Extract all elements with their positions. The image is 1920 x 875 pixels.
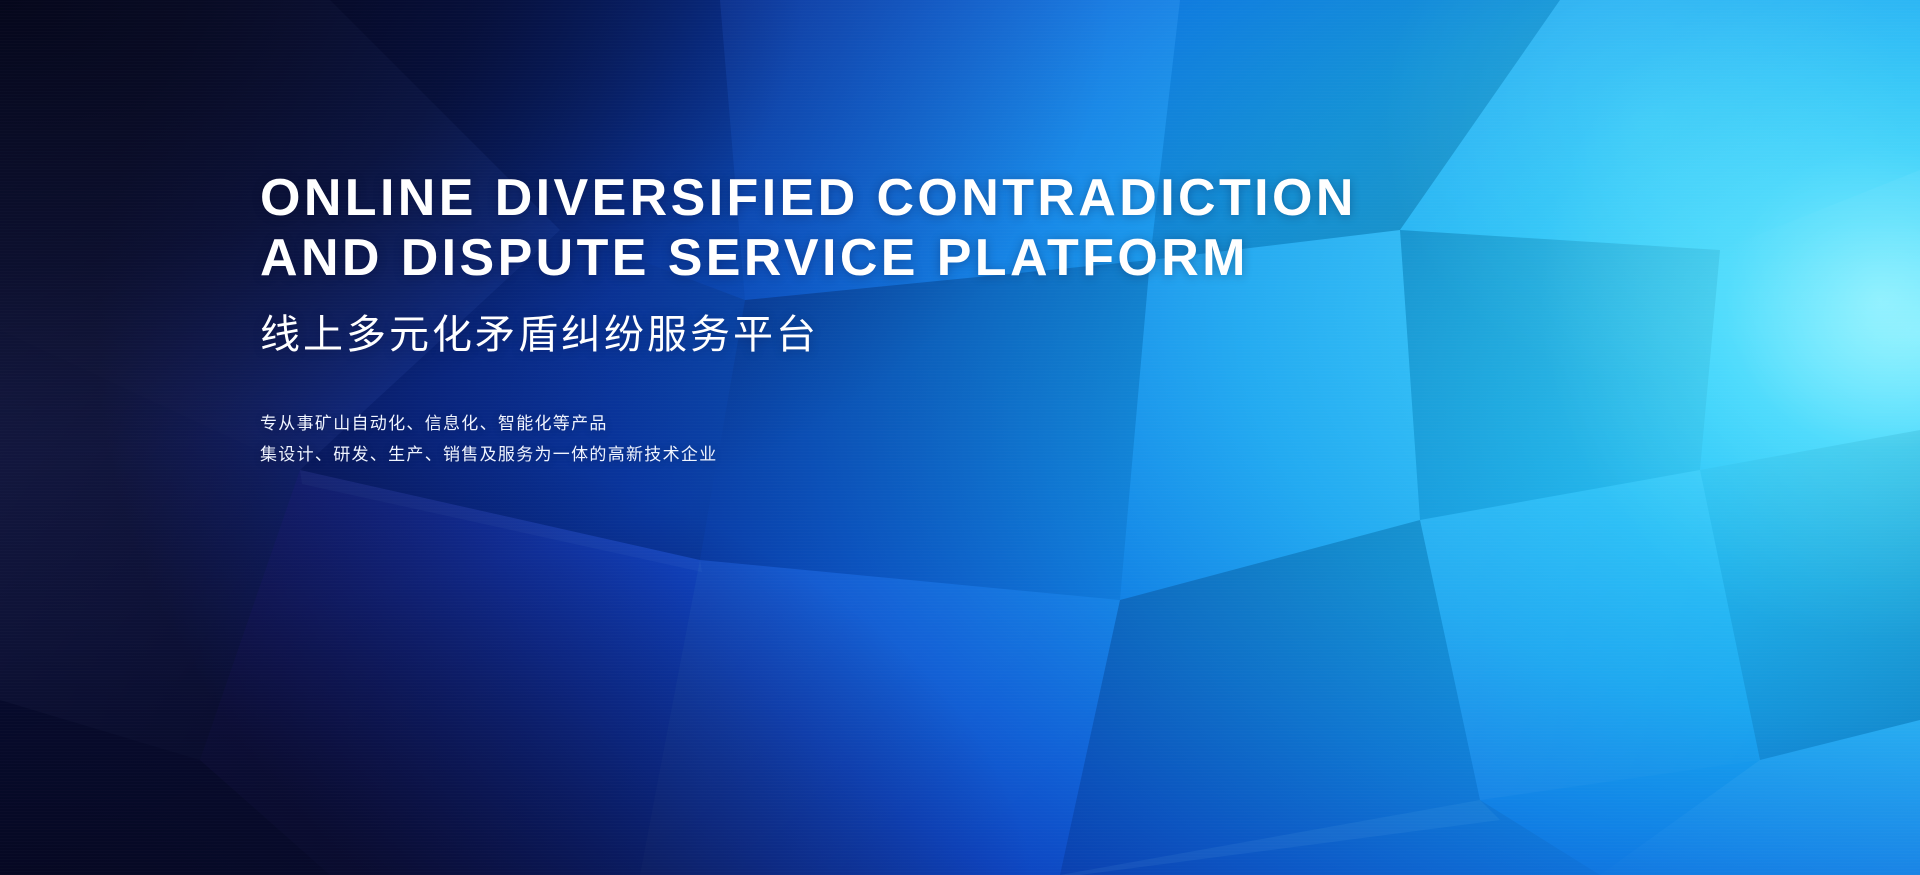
hero-text-block: ONLINE DIVERSIFIED CONTRADICTION AND DIS… [260,168,1560,470]
page-title: ONLINE DIVERSIFIED CONTRADICTION AND DIS… [260,168,1560,288]
hero-banner: ONLINE DIVERSIFIED CONTRADICTION AND DIS… [0,0,1920,875]
headline-line-2: AND DISPUTE SERVICE PLATFORM [260,228,1560,288]
page-subtitle: 线上多元化矛盾纠纷服务平台 [260,310,1560,360]
hero-description: 专从事矿山自动化、信息化、智能化等产品 集设计、研发、生产、销售及服务为一体的高… [260,408,1560,470]
description-line-1: 专从事矿山自动化、信息化、智能化等产品 [260,408,1560,439]
description-line-2: 集设计、研发、生产、销售及服务为一体的高新技术企业 [260,439,1560,470]
headline-line-1: ONLINE DIVERSIFIED CONTRADICTION [260,168,1560,228]
